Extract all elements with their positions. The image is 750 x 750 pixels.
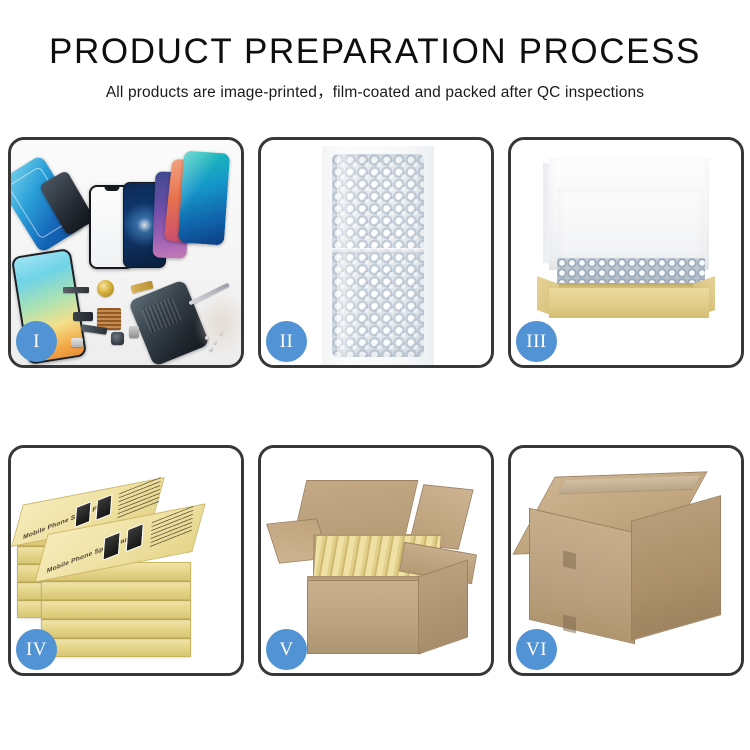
box-spec-lines (150, 506, 193, 548)
product-preparation-infographic: PRODUCT PREPARATION PROCESS All products… (0, 0, 750, 750)
step-panel-2: II (258, 137, 494, 368)
carton-handle-notch (563, 614, 576, 633)
background-blur (195, 290, 241, 356)
box-front-panel (549, 288, 709, 318)
page-title: PRODUCT PREPARATION PROCESS (0, 34, 750, 71)
step-panel-3: III (508, 137, 744, 368)
step-badge-4: IV (16, 629, 57, 670)
carton-handle-notch (563, 550, 576, 569)
foam-lining (557, 188, 703, 260)
step-badge-2: II (266, 321, 307, 362)
battery-connector-part (129, 326, 139, 338)
box-screen-image (102, 531, 120, 560)
speaker-part (97, 280, 114, 297)
retail-box (41, 619, 191, 638)
camera-module-part (111, 332, 124, 345)
bubble-wrap-fold (332, 248, 424, 254)
carton-side-panel (418, 559, 468, 654)
bubble-wrap-highlight (337, 154, 361, 357)
step-badge-1: I (16, 321, 57, 362)
phone-teal-gradient (178, 151, 230, 246)
step-panel-1: I (8, 137, 244, 368)
carton-front-panel (307, 580, 421, 654)
step-badge-6: VI (516, 629, 557, 670)
process-step-grid: I II III (8, 137, 744, 682)
flex-cable-dark (73, 312, 93, 321)
header: PRODUCT PREPARATION PROCESS All products… (0, 0, 750, 102)
retail-box (41, 600, 191, 619)
retail-box (41, 581, 191, 600)
metal-strip-part (63, 287, 89, 293)
box-screen-image (75, 501, 92, 528)
retail-box (41, 638, 191, 657)
box-screen-image (126, 523, 144, 552)
step-panel-4: Mobile Phone Spare Parts Mobile Phone Sp… (8, 445, 244, 676)
box-screen-image (95, 494, 112, 521)
carton-right-panel (631, 495, 721, 641)
step-panel-6: VI (508, 445, 744, 676)
carton-left-panel (529, 508, 635, 644)
step-badge-3: III (516, 321, 557, 362)
sim-tray-part (71, 338, 83, 347)
step-badge-5: V (266, 629, 307, 670)
page-subtitle: All products are image-printed，film-coat… (0, 80, 750, 102)
step-panel-5: V (258, 445, 494, 676)
